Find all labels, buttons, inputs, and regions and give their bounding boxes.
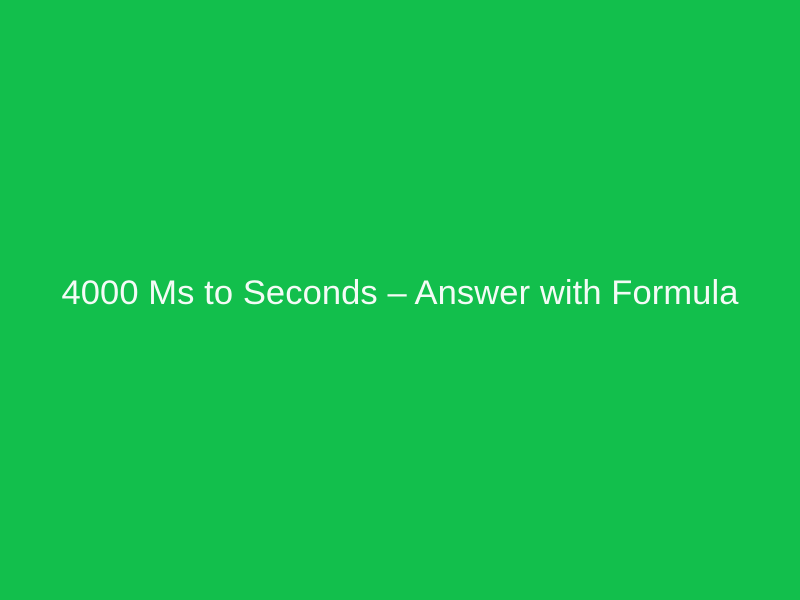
headline-container: 4000 Ms to Seconds – Answer with Formula — [0, 0, 800, 588]
page-title: 4000 Ms to Seconds – Answer with Formula — [61, 272, 738, 315]
share-card: 4000 Ms to Seconds – Answer with Formula — [0, 0, 800, 600]
